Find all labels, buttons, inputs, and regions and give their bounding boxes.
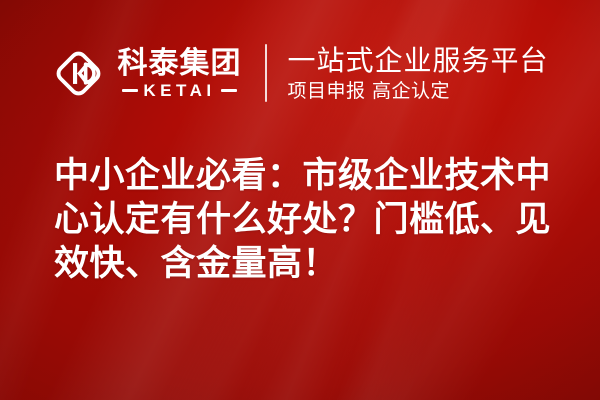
banner-header: 科泰集团 KETAI 一站式企业服务平台 项目申报 高企认定: [0, 34, 600, 112]
ketai-diamond-logo-icon: [51, 46, 106, 101]
brand-name-en-row: KETAI: [117, 82, 241, 99]
header-divider: [265, 44, 267, 102]
promo-banner: 科泰集团 KETAI 一站式企业服务平台 项目申报 高企认定 中小企业必看：市级…: [0, 0, 600, 400]
tagline-main: 一站式企业服务平台: [287, 45, 548, 77]
tagline-sub: 项目申报 高企认定: [287, 80, 450, 102]
brand-logo[interactable]: 科泰集团 KETAI: [51, 46, 241, 101]
brand-name-cn: 科泰集团: [117, 48, 241, 80]
brand-name-en: KETAI: [143, 82, 215, 99]
brand-wordmark: 科泰集团 KETAI: [117, 48, 241, 99]
tagline-block: 一站式企业服务平台 项目申报 高企认定: [287, 45, 548, 102]
dash-right-icon: [221, 89, 237, 92]
dash-left-icon: [122, 89, 138, 92]
banner-title: 中小企业必看：市级企业技术中心认定有什么好处？门槛低、见效快、含金量高！: [54, 154, 560, 286]
